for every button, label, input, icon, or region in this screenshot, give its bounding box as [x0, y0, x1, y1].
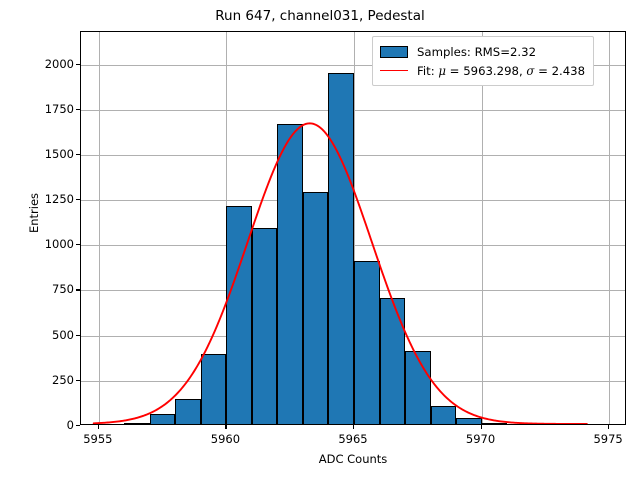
y-tick-mark — [76, 335, 80, 336]
y-tick-mark — [76, 289, 80, 290]
gridline-vertical — [482, 32, 483, 424]
legend-item-samples: Samples: RMS=2.32 — [380, 42, 585, 61]
y-tick-label: 1250 — [45, 192, 74, 206]
gridline-vertical — [99, 32, 100, 424]
y-tick-label: 750 — [52, 282, 74, 296]
histogram-bar — [226, 206, 252, 424]
x-tick-mark — [98, 425, 99, 429]
histogram-bar — [354, 261, 380, 424]
histogram-bar — [124, 423, 150, 424]
y-tick-label: 1000 — [45, 237, 74, 251]
histogram-bar — [303, 192, 329, 424]
histogram-bar — [482, 423, 508, 424]
legend-label-samples: Samples: RMS=2.32 — [417, 45, 536, 59]
y-tick-mark — [76, 154, 80, 155]
y-tick-mark — [76, 199, 80, 200]
histogram-bar — [252, 228, 278, 424]
y-tick-mark — [76, 109, 80, 110]
chart-legend: Samples: RMS=2.32 Fit: μ = 5963.298, σ =… — [372, 36, 594, 86]
plot-area — [80, 31, 626, 425]
y-tick-label: 1500 — [45, 147, 74, 161]
y-axis-label: Entries — [27, 153, 41, 273]
y-tick-mark — [76, 64, 80, 65]
x-tick-mark — [225, 425, 226, 429]
x-tick-label: 5960 — [211, 432, 240, 446]
legend-item-fit: Fit: μ = 5963.298, σ = 2.438 — [380, 61, 585, 80]
line-swatch-icon — [380, 70, 408, 71]
sigma-value: = 2.438 — [534, 64, 585, 78]
x-tick-label: 5970 — [466, 432, 495, 446]
x-axis-label: ADC Counts — [80, 452, 626, 466]
chart-figure: Run 647, channel031, Pedestal 0250500750… — [0, 0, 640, 480]
filled-square-swatch-icon — [380, 46, 408, 58]
y-tick-mark — [76, 380, 80, 381]
page-title: Run 647, channel031, Pedestal — [0, 8, 640, 24]
y-tick-mark — [76, 244, 80, 245]
x-tick-label: 5955 — [83, 432, 112, 446]
x-tick-mark — [353, 425, 354, 429]
x-tick-mark — [608, 425, 609, 429]
x-tick-mark — [481, 425, 482, 429]
histogram-bar — [431, 406, 457, 424]
x-tick-label: 5965 — [338, 432, 367, 446]
y-tick-label: 2000 — [45, 57, 74, 71]
histogram-bar — [328, 73, 354, 424]
y-tick-label: 500 — [52, 328, 74, 342]
histogram-bar — [456, 418, 482, 424]
legend-label-fit: Fit: μ = 5963.298, σ = 2.438 — [417, 64, 585, 78]
y-tick-label: 250 — [52, 373, 74, 387]
y-tick-mark — [76, 425, 80, 426]
y-tick-label: 1750 — [45, 102, 74, 116]
mu-value: = 5963.298, — [446, 64, 526, 78]
histogram-bar — [380, 298, 406, 425]
x-tick-label: 5975 — [593, 432, 622, 446]
histogram-bar — [150, 414, 176, 424]
histogram-bar — [201, 354, 227, 424]
legend-fit-prefix: Fit: — [417, 64, 438, 78]
histogram-bar — [277, 124, 303, 424]
histogram-bar — [405, 351, 431, 424]
histogram-bar — [175, 399, 201, 424]
mu-symbol: μ — [438, 64, 446, 78]
y-tick-label: 0 — [67, 418, 74, 432]
gridline-vertical — [609, 32, 610, 424]
